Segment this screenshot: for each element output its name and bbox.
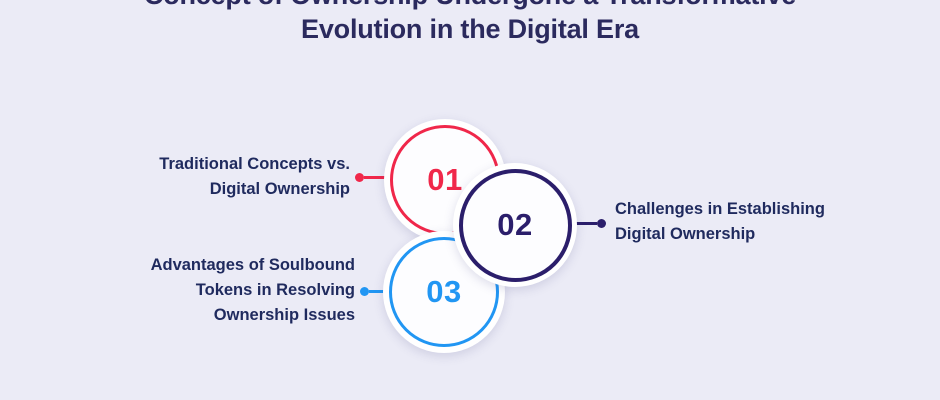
- step-circle-02[interactable]: 02: [453, 163, 577, 287]
- connector-line-01: [364, 176, 386, 179]
- step-label-01-line-1: Traditional Concepts vs.: [60, 152, 350, 177]
- connector-dot-end-02: [597, 219, 606, 228]
- infographic-canvas: Concept of Ownership Undergone a Transfo…: [0, 0, 940, 400]
- connector-dot-start-01: [355, 173, 364, 182]
- step-label-02-line-1: Challenges in Establishing: [615, 197, 915, 222]
- title-line-1: Concept of Ownership Undergone a Transfo…: [0, 0, 940, 12]
- step-label-03-line-1: Advantages of Soulbound: [50, 253, 355, 278]
- step-label-03-line-3: Ownership Issues: [50, 303, 355, 328]
- step-number-02: 02: [459, 169, 572, 282]
- title-line-2: Evolution in the Digital Era: [0, 12, 940, 46]
- step-label-01-line-2: Digital Ownership: [60, 177, 350, 202]
- step-label-03: Advantages of Soulbound Tokens in Resolv…: [50, 253, 355, 328]
- step-label-01: Traditional Concepts vs. Digital Ownersh…: [60, 152, 350, 202]
- connector-dot-start-03: [360, 287, 369, 296]
- step-label-02: Challenges in Establishing Digital Owner…: [615, 197, 915, 247]
- step-label-02-line-2: Digital Ownership: [615, 222, 915, 247]
- step-label-03-line-2: Tokens in Resolving: [50, 278, 355, 303]
- page-title: Concept of Ownership Undergone a Transfo…: [0, 0, 940, 46]
